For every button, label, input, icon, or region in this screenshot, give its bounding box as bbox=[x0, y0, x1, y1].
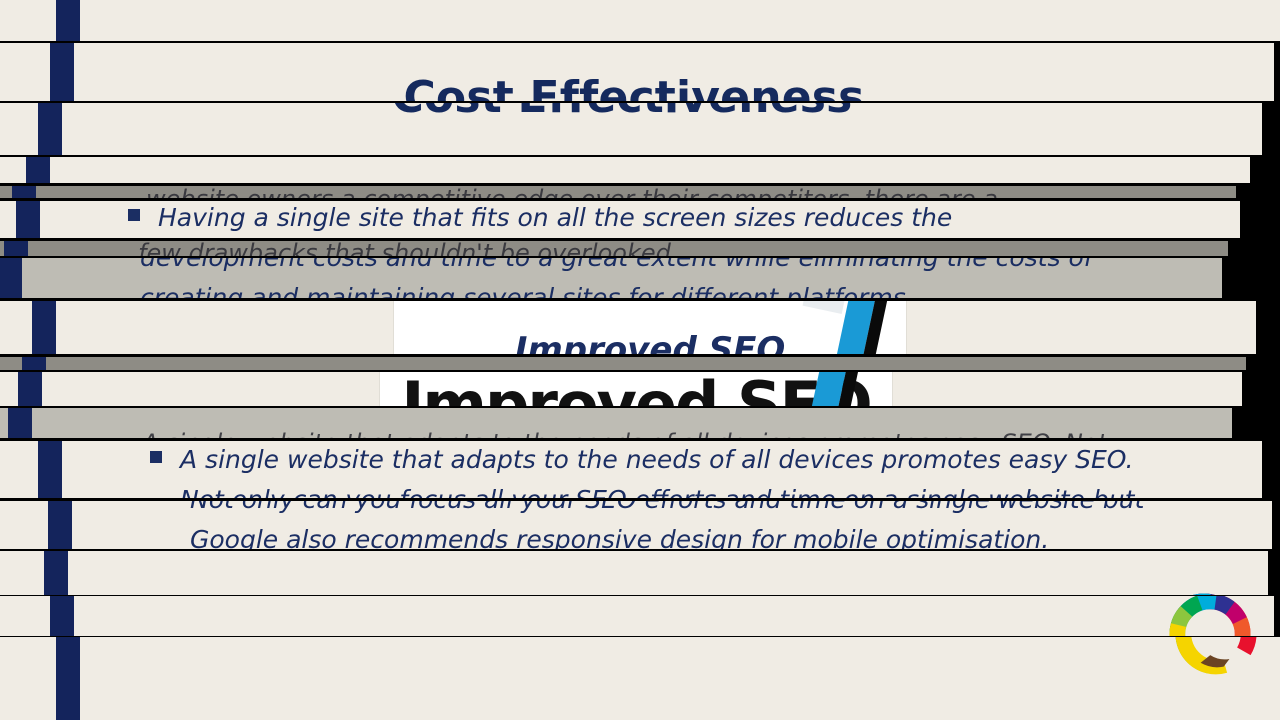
band-seam bbox=[0, 101, 1280, 103]
accent-stripe bbox=[56, 0, 80, 42]
transition-band: Improved SEO Improved SEO bbox=[0, 300, 1280, 356]
transition-band-ghost: A single website that adapts to the need… bbox=[0, 408, 1280, 440]
bullet-list: Having a single site that fits on all th… bbox=[128, 200, 1118, 240]
transition-band bbox=[0, 157, 1280, 185]
list-item: Having a single site that fits on all th… bbox=[128, 200, 1118, 240]
slide-surface: A single website that adapts to the need… bbox=[0, 440, 1262, 500]
list-item: Having a single site that fits on all th… bbox=[110, 258, 1100, 300]
transition-band: Cost Effectiveness bbox=[0, 103, 1280, 157]
band-seam bbox=[0, 636, 1280, 637]
accent-stripe bbox=[18, 372, 42, 408]
page-title: Cost Effectiveness bbox=[0, 72, 1274, 103]
square-bullet-icon bbox=[150, 451, 162, 463]
band-seam bbox=[0, 498, 1280, 501]
slide-surface: Cost Effectiveness Having a single site … bbox=[0, 0, 1280, 42]
seo-picture: Improved SEO Improved SEO bbox=[380, 372, 892, 408]
band-seam bbox=[0, 298, 1280, 301]
list-item: A single website that adapts to the need… bbox=[150, 440, 1140, 500]
slide-surface: Improved SEO Improved SEO bbox=[0, 372, 1242, 408]
transition-band: Having a single site that fits on all th… bbox=[0, 258, 1280, 300]
band-seam bbox=[0, 406, 1280, 408]
transition-band: Cost Effectiveness Having a single site … bbox=[0, 0, 1280, 42]
band-seam bbox=[0, 238, 1280, 241]
band-seam bbox=[0, 549, 1280, 551]
band-seam bbox=[0, 198, 1280, 201]
accent-stripe bbox=[38, 440, 62, 500]
slide-surface bbox=[0, 157, 1250, 185]
accent-stripe bbox=[48, 500, 72, 551]
transition-band: A single website that adapts to the need… bbox=[0, 440, 1280, 500]
slide-surface: A single website that adapts to the need… bbox=[0, 408, 1232, 440]
transition-band: Improved SEO Improved SEO bbox=[0, 372, 1280, 408]
accent-stripe bbox=[44, 551, 68, 596]
band-seam bbox=[0, 354, 1280, 357]
slide-surface: Having a single site that fits on all th… bbox=[0, 200, 1240, 240]
band-seam bbox=[0, 370, 1280, 372]
list-item: A single website that adapts to the need… bbox=[160, 500, 1150, 551]
slide-surface bbox=[0, 551, 1268, 596]
band-seam bbox=[0, 155, 1280, 157]
band-seam bbox=[0, 183, 1280, 186]
page-title: Cost Effectiveness bbox=[0, 103, 1262, 123]
slide-surface: Having a single site that fits on all th… bbox=[0, 258, 1222, 300]
square-bullet-icon bbox=[128, 209, 140, 221]
transition-band: Cost Effectiveness bbox=[0, 42, 1280, 103]
slide-surface bbox=[0, 596, 1274, 637]
accent-stripe bbox=[50, 596, 74, 637]
seo-picture: Improved SEO Improved SEO bbox=[394, 300, 906, 356]
accent-stripe bbox=[0, 258, 22, 300]
slide-surface bbox=[0, 637, 1280, 720]
band-seam bbox=[0, 256, 1280, 258]
transition-band: Having a single site that fits on all th… bbox=[0, 200, 1280, 240]
rainbow-swirl-logo bbox=[1156, 582, 1252, 596]
accent-stripe bbox=[56, 637, 80, 720]
bullet-text: Having a single site that fits on all th… bbox=[140, 258, 1100, 300]
bullet-text: Having a single site that fits on all th… bbox=[158, 200, 1118, 240]
bullet-text: A single website that adapts to the need… bbox=[190, 500, 1150, 551]
bullet-text: A single website that adapts to the need… bbox=[180, 440, 1140, 500]
transition-band bbox=[0, 596, 1280, 637]
picture-caption-small: Improved SEO bbox=[394, 330, 906, 356]
rainbow-swirl-logo bbox=[1168, 637, 1264, 686]
transition-band bbox=[0, 637, 1280, 720]
accent-stripe bbox=[26, 157, 50, 185]
rainbow-swirl-logo bbox=[1162, 596, 1258, 637]
slide-surface: A single website that adapts to the need… bbox=[0, 500, 1272, 551]
pen-nib-icon bbox=[803, 300, 846, 314]
accent-stripe bbox=[8, 408, 32, 440]
accent-stripe bbox=[16, 200, 40, 240]
bullet-list: Having a single site that fits on all th… bbox=[110, 258, 1100, 300]
band-seam bbox=[0, 595, 1280, 596]
slide-transition-stage: Cost Effectiveness Having a single site … bbox=[0, 0, 1280, 720]
band-seam bbox=[0, 438, 1280, 441]
slide-surface: Cost Effectiveness bbox=[0, 42, 1274, 103]
slide-surface: Cost Effectiveness bbox=[0, 103, 1262, 157]
band-seam bbox=[0, 41, 1280, 43]
transition-band: A single website that adapts to the need… bbox=[0, 500, 1280, 551]
slide-surface: Improved SEO Improved SEO bbox=[0, 300, 1256, 356]
transition-band bbox=[0, 551, 1280, 596]
accent-stripe bbox=[32, 300, 56, 356]
